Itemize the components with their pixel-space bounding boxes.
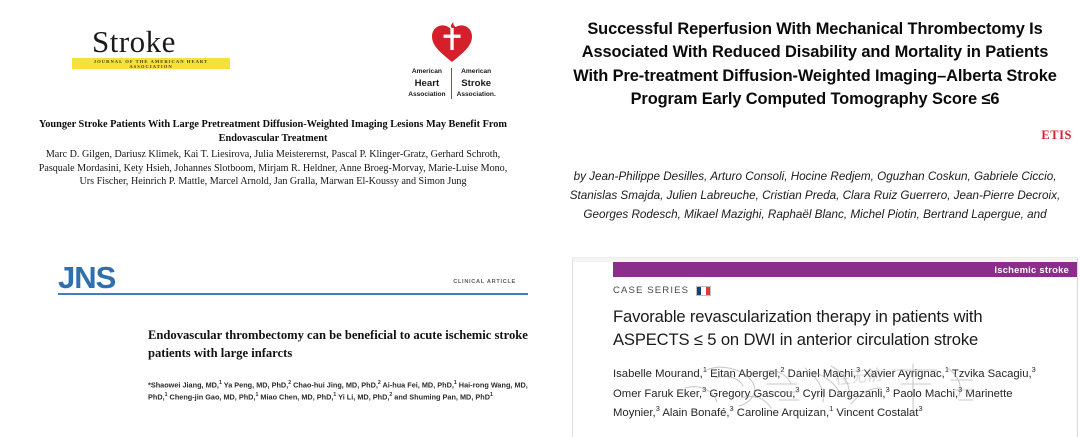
etis-article-header: Successful Reperfusion With Mechanical T… [565,18,1065,111]
jns-article-authors: *Shaowei Jiang, MD,1 Ya Peng, MD, PhD,2 … [148,379,538,403]
etis-registry-tag: ETIS [1041,128,1072,143]
card-section-banner: Ischemic stroke [613,262,1077,277]
stroke-journal-logo: Stroke JOURNAL OF THE AMERICAN HEART ASS… [72,26,242,69]
aha-heart-torch-icon [392,20,512,64]
card-body: CASE SERIES Favorable revascularization … [613,285,1055,422]
card-section-banner-label: Ischemic stroke [994,264,1077,275]
stroke-article-header: Younger Stroke Patients With Large Pretr… [34,118,512,189]
jns-journal-header: JNS CLINICAL ARTICLE [58,262,528,296]
composite-journal-screenshot: Stroke JOURNAL OF THE AMERICAN HEART ASS… [0,0,1080,437]
stroke-article-title: Younger Stroke Patients With Large Pretr… [34,118,512,145]
card-article-type: CASE SERIES [613,285,1055,296]
card-article-authors: Isabelle Mourand,1 Eitan Abergel,2 Danie… [613,364,1055,422]
stroke-article-authors: Marc D. Gilgen, Dariusz Klimek, Kai T. L… [34,148,512,189]
card-article-title: Favorable revascularization therapy in p… [613,305,1055,351]
left-column: Stroke JOURNAL OF THE AMERICAN HEART ASS… [0,0,545,437]
jns-header-rule [58,293,528,295]
aha-asa-logo: American Heart Association American Stro… [392,20,512,100]
jns-article-title: Endovascular thrombectomy can be benefic… [148,327,538,363]
stroke-masthead: Stroke JOURNAL OF THE AMERICAN HEART ASS… [0,18,545,106]
etis-article-title: Successful Reperfusion With Mechanical T… [565,18,1065,111]
france-flag-icon [696,286,711,296]
journal-article-card: Ischemic stroke CASE SERIES Favorable re… [572,258,1078,437]
etis-article-authors: by Jean-Philippe Desilles, Arturo Consol… [567,168,1063,225]
jns-journal-logo: JNS [58,262,115,293]
american-stroke-association-name: American Stroke Association. [452,67,501,100]
case-series-label: CASE SERIES [613,285,689,296]
stroke-journal-banner: JOURNAL OF THE AMERICAN HEART ASSOCIATIO… [72,58,230,69]
aha-org-names: American Heart Association American Stro… [392,67,512,100]
american-heart-association-name: American Heart Association [403,67,450,100]
stroke-journal-name: Stroke [72,26,242,57]
jns-article-type-label: CLINICAL ARTICLE [453,279,516,285]
right-column: Successful Reperfusion With Mechanical T… [545,0,1080,437]
jns-article-header: Endovascular thrombectomy can be benefic… [148,327,538,403]
